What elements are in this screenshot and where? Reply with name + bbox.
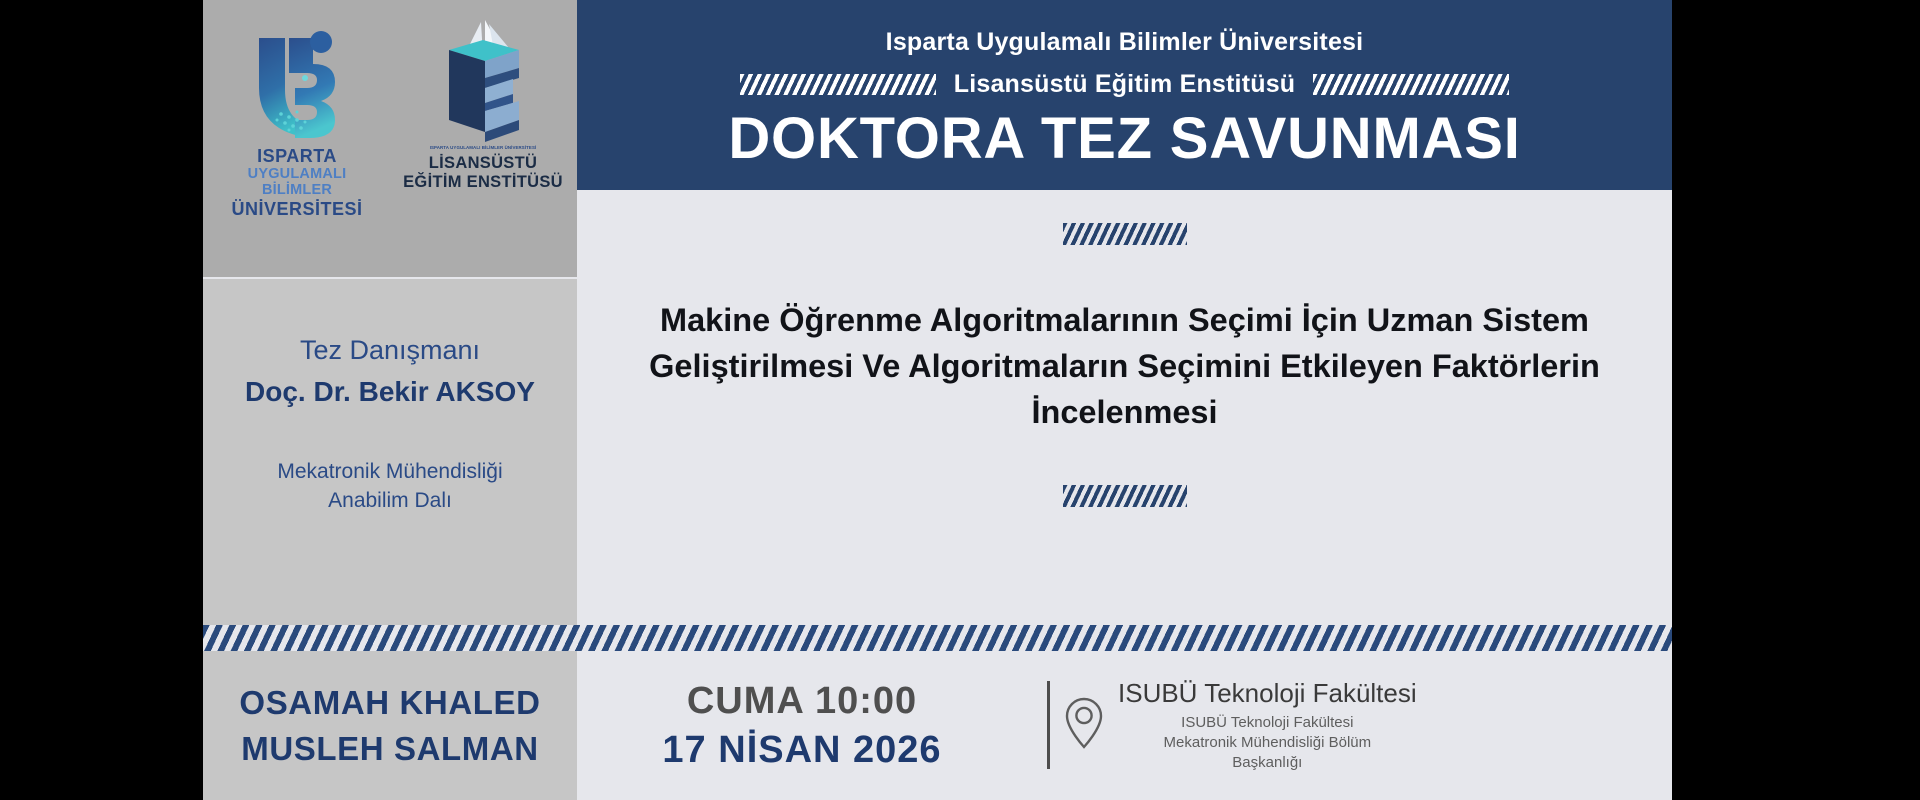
advisor-department-line2: Anabilim Dalı	[277, 487, 502, 516]
hatch-decoration-left-icon	[740, 74, 936, 95]
main-content: Makine Öğrenme Algoritmalarının Seçimi İ…	[577, 190, 1672, 625]
page-title: DOKTORA TEZ SAVUNMASI	[728, 105, 1520, 172]
bottom-info-bar: CUMA 10:00 17 NİSAN 2026 ISUBÜ Teknoloji…	[577, 651, 1672, 800]
banner-institute-row: Lisansüstü Eğitim Enstitüsü	[740, 70, 1510, 99]
location-detail: ISUBÜ Teknoloji Fakültesi Mekatronik Müh…	[1118, 713, 1417, 772]
graduate-institute-book-icon	[397, 14, 569, 146]
institute-logo-line1: LİSANSÜSTÜ	[397, 154, 569, 173]
schedule-date: 17 NİSAN 2026	[577, 729, 1027, 772]
hatch-decoration-bottom-icon	[1063, 485, 1187, 507]
banner-institute-name: Lisansüstü Eğitim Enstitüsü	[954, 70, 1296, 99]
student-panel: OSAMAH KHALED MUSLEH SALMAN	[203, 651, 577, 800]
university-logo: ISPARTA UYGULAMALI BİLİMLER ÜNİVERSİTESİ	[211, 14, 383, 219]
header-banner: Isparta Uygulamalı Bilimler Üniversitesi…	[577, 0, 1672, 190]
institute-logo-microtext: ISPARTA UYGULAMALI BİLİMLER ÜNİVERSİTESİ	[397, 146, 569, 151]
advisor-department-line1: Mekatronik Mühendisliği	[277, 458, 502, 487]
map-pin-icon	[1064, 695, 1104, 756]
striped-divider	[203, 625, 1672, 651]
isparta-university-monogram-icon	[211, 14, 383, 146]
location-detail-line1: ISUBÜ Teknoloji Fakültesi	[1118, 713, 1417, 733]
university-logo-line1: ISPARTA	[211, 146, 383, 166]
location-heading: ISUBÜ Teknoloji Fakültesi	[1118, 678, 1417, 709]
advisor-role-label: Tez Danışmanı	[300, 335, 480, 366]
hatch-decoration-top-icon	[1063, 223, 1187, 245]
institute-logo-line2: EĞİTİM ENSTİTÜSÜ	[397, 173, 569, 192]
schedule-block: CUMA 10:00 17 NİSAN 2026	[577, 680, 1027, 772]
banner-university-name: Isparta Uygulamalı Bilimler Üniversitesi	[886, 28, 1364, 57]
location-block: ISUBÜ Teknoloji Fakültesi ISUBÜ Teknoloj…	[1027, 678, 1417, 772]
hatch-decoration-right-icon	[1313, 74, 1509, 95]
student-name-line2: MUSLEH SALMAN	[241, 726, 538, 772]
location-text: ISUBÜ Teknoloji Fakültesi ISUBÜ Teknoloj…	[1118, 678, 1417, 772]
university-logo-line3: ÜNİVERSİTESİ	[211, 199, 383, 219]
advisor-name: Doç. Dr. Bekir AKSOY	[245, 376, 535, 408]
student-name-line1: OSAMAH KHALED	[239, 680, 540, 726]
university-logo-caption: ISPARTA UYGULAMALI BİLİMLER ÜNİVERSİTESİ	[211, 146, 383, 219]
schedule-day-time: CUMA 10:00	[577, 680, 1027, 723]
advisor-panel: Tez Danışmanı Doç. Dr. Bekir AKSOY Mekat…	[203, 279, 577, 625]
institute-logo: ISPARTA UYGULAMALI BİLİMLER ÜNİVERSİTESİ…	[397, 14, 569, 193]
thesis-title: Makine Öğrenme Algoritmalarının Seçimi İ…	[625, 297, 1625, 435]
institute-logo-caption: ISPARTA UYGULAMALI BİLİMLER ÜNİVERSİTESİ…	[397, 146, 569, 193]
vertical-rule	[1047, 681, 1050, 769]
location-detail-line3: Başkanlığı	[1118, 753, 1417, 773]
left-column: ISPARTA UYGULAMALI BİLİMLER ÜNİVERSİTESİ	[203, 0, 577, 800]
thesis-defense-poster: ISPARTA UYGULAMALI BİLİMLER ÜNİVERSİTESİ	[203, 0, 1672, 800]
logo-panel: ISPARTA UYGULAMALI BİLİMLER ÜNİVERSİTESİ	[203, 0, 577, 277]
university-logo-line2: UYGULAMALI BİLİMLER	[211, 166, 383, 198]
advisor-department: Mekatronik Mühendisliği Anabilim Dalı	[277, 458, 502, 516]
location-detail-line2: Mekatronik Mühendisliği Bölüm	[1118, 733, 1417, 753]
